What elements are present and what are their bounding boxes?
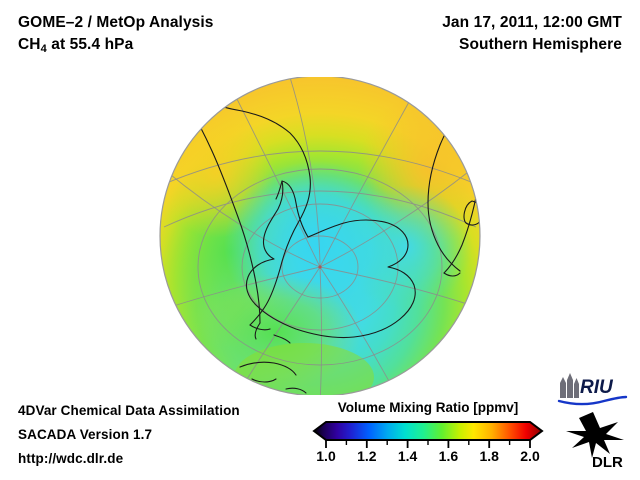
species-level-label: CH4 at 55.4 hPa [18, 34, 214, 60]
colorbar-tick-label: 1.8 [479, 448, 498, 464]
dlr-logo: DLR [562, 410, 630, 470]
dlr-bird-icon [566, 412, 624, 458]
analysis-title: GOME–2 / MetOp Analysis [18, 12, 214, 34]
dlr-wordmark: DLR [592, 454, 623, 470]
riu-logo: RIU [556, 372, 628, 406]
south-pole-marker [318, 265, 321, 268]
valid-datetime: Jan 17, 2011, 12:00 GMT [442, 12, 622, 34]
colorbar-title: Volume Mixing Ratio [ppmv] [312, 400, 544, 415]
colorbar: Volume Mixing Ratio [ppmv] 1.01.21.41.61… [312, 400, 544, 472]
pressure-level: at 55.4 hPa [47, 36, 134, 53]
globe-map [156, 77, 484, 395]
header-left: GOME–2 / MetOp Analysis CH4 at 55.4 hPa [18, 12, 214, 60]
header-right: Jan 17, 2011, 12:00 GMT Southern Hemisph… [442, 12, 622, 56]
colorbar-gradient [314, 422, 542, 440]
footer-method: 4DVar Chemical Data Assimilation [18, 403, 240, 418]
colorbar-tick-label: 2.0 [520, 448, 539, 464]
footer-version: SACADA Version 1.7 [18, 427, 152, 442]
colorbar-tick-label: 1.6 [439, 448, 458, 464]
colorbar-tick-label: 1.2 [357, 448, 376, 464]
colorbar-tick-label: 1.4 [398, 448, 417, 464]
colorbar-ticks [326, 440, 530, 448]
colorbar-scale [312, 420, 544, 450]
footer-url[interactable]: http://wdc.dlr.de [18, 451, 123, 466]
colorbar-tick-label: 1.0 [316, 448, 335, 464]
colorbar-tick-labels: 1.01.21.41.61.82.0 [312, 448, 544, 470]
riu-wordmark: RIU [580, 377, 614, 398]
riu-building-icon [560, 373, 579, 398]
riu-wave-icon [559, 397, 626, 404]
region-label: Southern Hemisphere [442, 34, 622, 56]
species-name: CH [18, 36, 41, 53]
figure-canvas: GOME–2 / MetOp Analysis CH4 at 55.4 hPa … [0, 0, 640, 480]
orthographic-projection [156, 77, 484, 395]
